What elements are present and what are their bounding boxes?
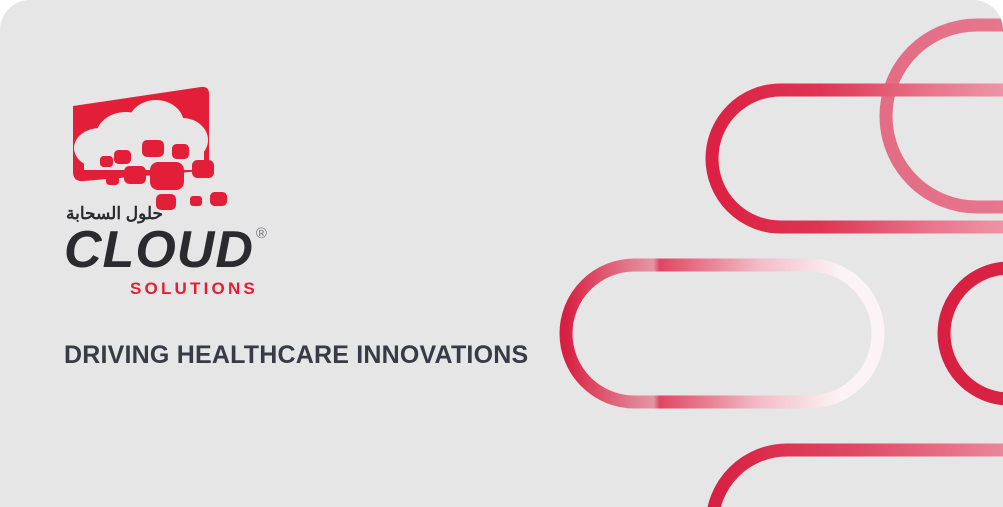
registered-trademark-icon: ® (256, 226, 267, 241)
logo-wordmark-row: CLOUD ® (64, 224, 267, 276)
pill-middle (566, 265, 878, 402)
pill-top-right (886, 25, 1003, 207)
pill-bottom (712, 450, 1003, 507)
logo-tagline: SOLUTIONS (130, 280, 258, 297)
logo-wordmark: CLOUD (64, 224, 254, 276)
pill-upper-large (712, 90, 1003, 227)
pill-middle-right-edge (944, 268, 1003, 399)
healthcare-banner-card: حلول السحابة CLOUD ® SOLUTIONS DRIVING H… (0, 0, 1003, 507)
page-title: DRIVING HEALTHCARE INNOVATIONS (64, 341, 528, 370)
brand-logo: حلول السحابة CLOUD ® SOLUTIONS (64, 84, 264, 284)
cloud-pixel-logo-icon (64, 84, 234, 216)
